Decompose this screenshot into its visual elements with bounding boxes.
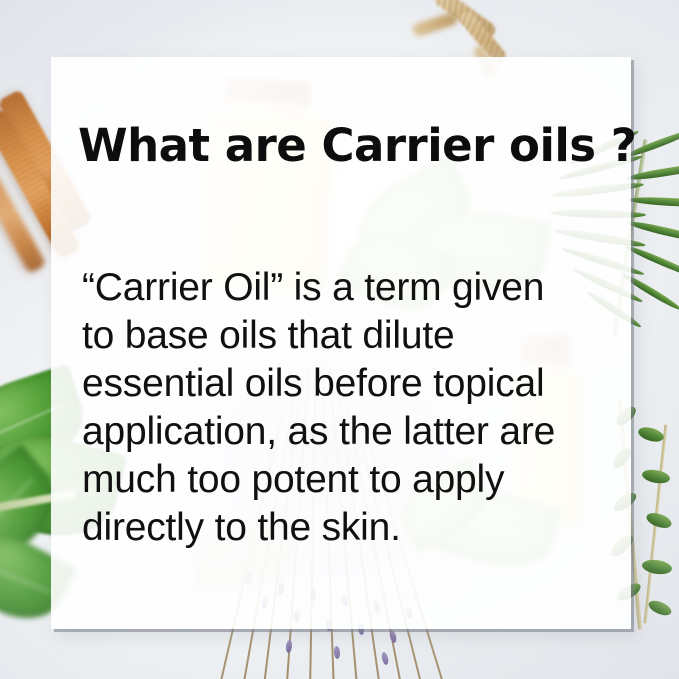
white-content-card: What are Carrier oils ? “Carrier Oil” is… — [51, 57, 631, 629]
body-line-5: much too potent to apply — [82, 456, 612, 504]
body-paragraph: “Carrier Oil” is a term given to base oi… — [82, 264, 612, 552]
page-title: What are Carrier oils ? — [78, 123, 636, 168]
body-line-4: application, as the latter are — [82, 408, 612, 456]
card-text-layer: What are Carrier oils ? “Carrier Oil” is… — [51, 57, 631, 629]
body-line-3: essential oils before topical — [82, 360, 612, 408]
body-line-6: directly to the skin. — [82, 504, 612, 552]
body-line-1: “Carrier Oil” is a term given — [82, 264, 612, 312]
infographic-poster: What are Carrier oils ? “Carrier Oil” is… — [0, 0, 679, 679]
body-line-2: to base oils that dilute — [82, 312, 612, 360]
